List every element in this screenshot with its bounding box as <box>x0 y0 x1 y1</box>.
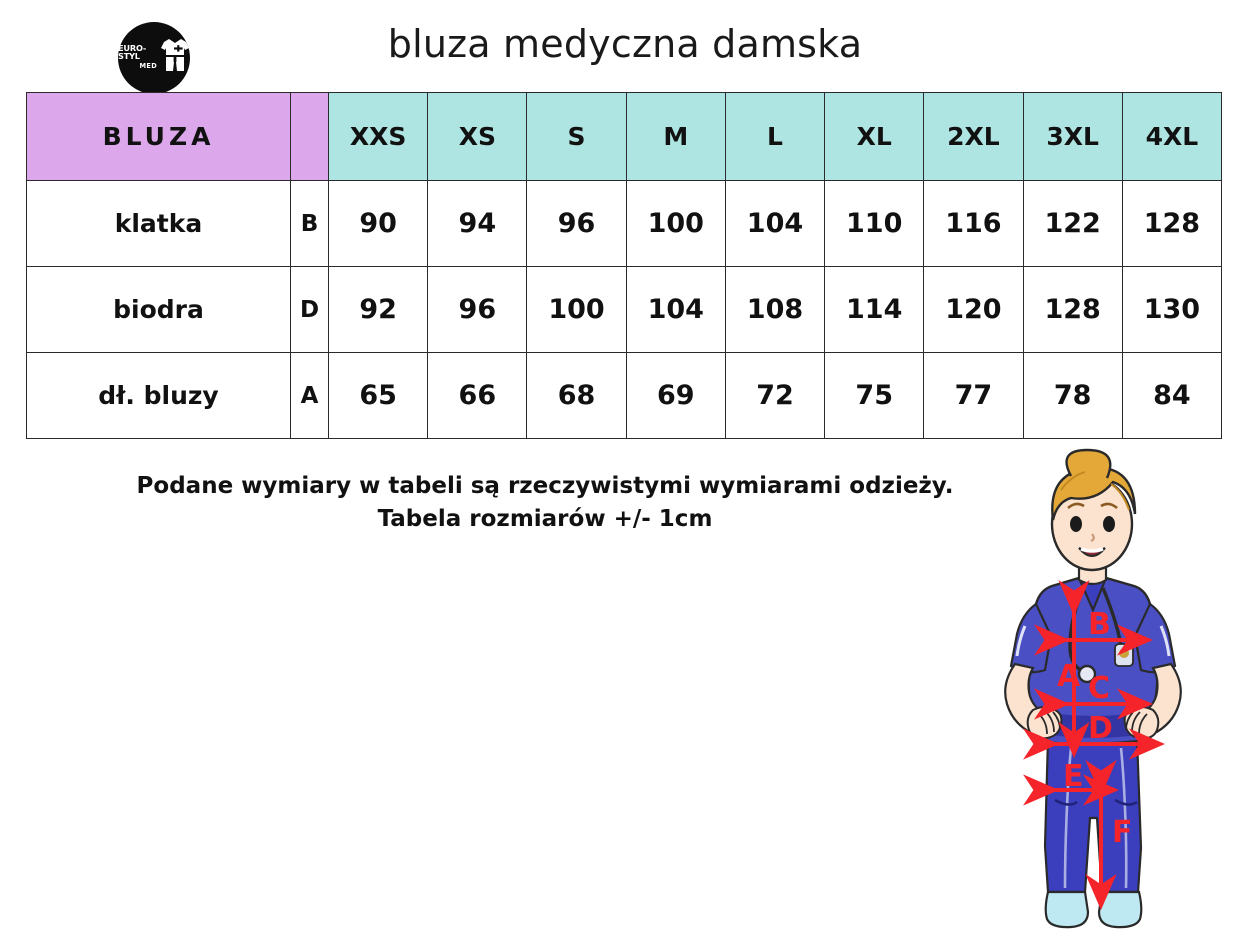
header-cell-letter <box>291 93 329 181</box>
cell-biodra-l: 108 <box>725 267 824 353</box>
cell-dl-bluzy-m: 69 <box>626 353 725 439</box>
row-letter-dl-bluzy: A <box>291 353 329 439</box>
cell-dl-bluzy-xxs: 65 <box>329 353 428 439</box>
footnote-line-2: Tabela rozmiarów +/- 1cm <box>0 503 1090 536</box>
cell-klatka-2xl: 116 <box>924 181 1023 267</box>
marker-label-E: E <box>1063 759 1084 794</box>
page-header: EURO-STYL MED bluza medyczna damska <box>0 0 1250 90</box>
row-letter-biodra: D <box>291 267 329 353</box>
table-row: dł. bluzy A 65 66 68 69 72 75 77 78 84 <box>27 353 1222 439</box>
header-cell-size-1: XS <box>428 93 527 181</box>
page-title: bluza medyczna damska <box>0 22 1250 66</box>
header-cell-product: BLUZA <box>27 93 291 181</box>
header-cell-size-6: 2XL <box>924 93 1023 181</box>
cell-klatka-m: 100 <box>626 181 725 267</box>
cell-klatka-4xl: 128 <box>1122 181 1221 267</box>
table-header-row: BLUZA XXS XS S M L XL 2XL 3XL 4XL <box>27 93 1222 181</box>
nurse-measurement-figure: A B C D E F <box>975 448 1250 938</box>
cell-dl-bluzy-s: 68 <box>527 353 626 439</box>
row-label-dl-bluzy: dł. bluzy <box>27 353 291 439</box>
header-cell-size-3: M <box>626 93 725 181</box>
header-cell-size-7: 3XL <box>1023 93 1122 181</box>
row-label-klatka: klatka <box>27 181 291 267</box>
row-label-biodra: biodra <box>27 267 291 353</box>
cell-biodra-2xl: 120 <box>924 267 1023 353</box>
footnote: Podane wymiary w tabeli są rzeczywistymi… <box>0 470 1090 537</box>
cell-dl-bluzy-2xl: 77 <box>924 353 1023 439</box>
cell-klatka-xs: 94 <box>428 181 527 267</box>
cell-biodra-3xl: 128 <box>1023 267 1122 353</box>
row-letter-klatka: B <box>291 181 329 267</box>
header-cell-size-4: L <box>725 93 824 181</box>
cell-biodra-4xl: 130 <box>1122 267 1221 353</box>
cell-dl-bluzy-xs: 66 <box>428 353 527 439</box>
cell-biodra-xs: 96 <box>428 267 527 353</box>
cell-klatka-xl: 110 <box>825 181 924 267</box>
table-row: biodra D 92 96 100 104 108 114 120 128 1… <box>27 267 1222 353</box>
cell-biodra-xl: 114 <box>825 267 924 353</box>
cell-klatka-3xl: 122 <box>1023 181 1122 267</box>
cell-biodra-s: 100 <box>527 267 626 353</box>
marker-label-C: C <box>1088 671 1110 706</box>
marker-label-A: A <box>1057 659 1081 694</box>
cell-dl-bluzy-3xl: 78 <box>1023 353 1122 439</box>
cell-dl-bluzy-xl: 75 <box>825 353 924 439</box>
cell-dl-bluzy-l: 72 <box>725 353 824 439</box>
marker-label-B: B <box>1088 607 1111 642</box>
marker-label-F: F <box>1112 815 1133 850</box>
header-cell-size-5: XL <box>825 93 924 181</box>
cell-klatka-xxs: 90 <box>329 181 428 267</box>
footnote-line-1: Podane wymiary w tabeli są rzeczywistymi… <box>0 470 1090 503</box>
header-cell-size-2: S <box>527 93 626 181</box>
size-chart-table: BLUZA XXS XS S M L XL 2XL 3XL 4XL klatka… <box>26 92 1222 439</box>
cell-klatka-l: 104 <box>725 181 824 267</box>
table-row: klatka B 90 94 96 100 104 110 116 122 12… <box>27 181 1222 267</box>
marker-label-D: D <box>1088 711 1113 746</box>
cell-dl-bluzy-4xl: 84 <box>1122 353 1221 439</box>
header-cell-size-0: XXS <box>329 93 428 181</box>
cell-biodra-m: 104 <box>626 267 725 353</box>
cell-biodra-xxs: 92 <box>329 267 428 353</box>
cell-klatka-s: 96 <box>527 181 626 267</box>
header-cell-size-8: 4XL <box>1122 93 1221 181</box>
